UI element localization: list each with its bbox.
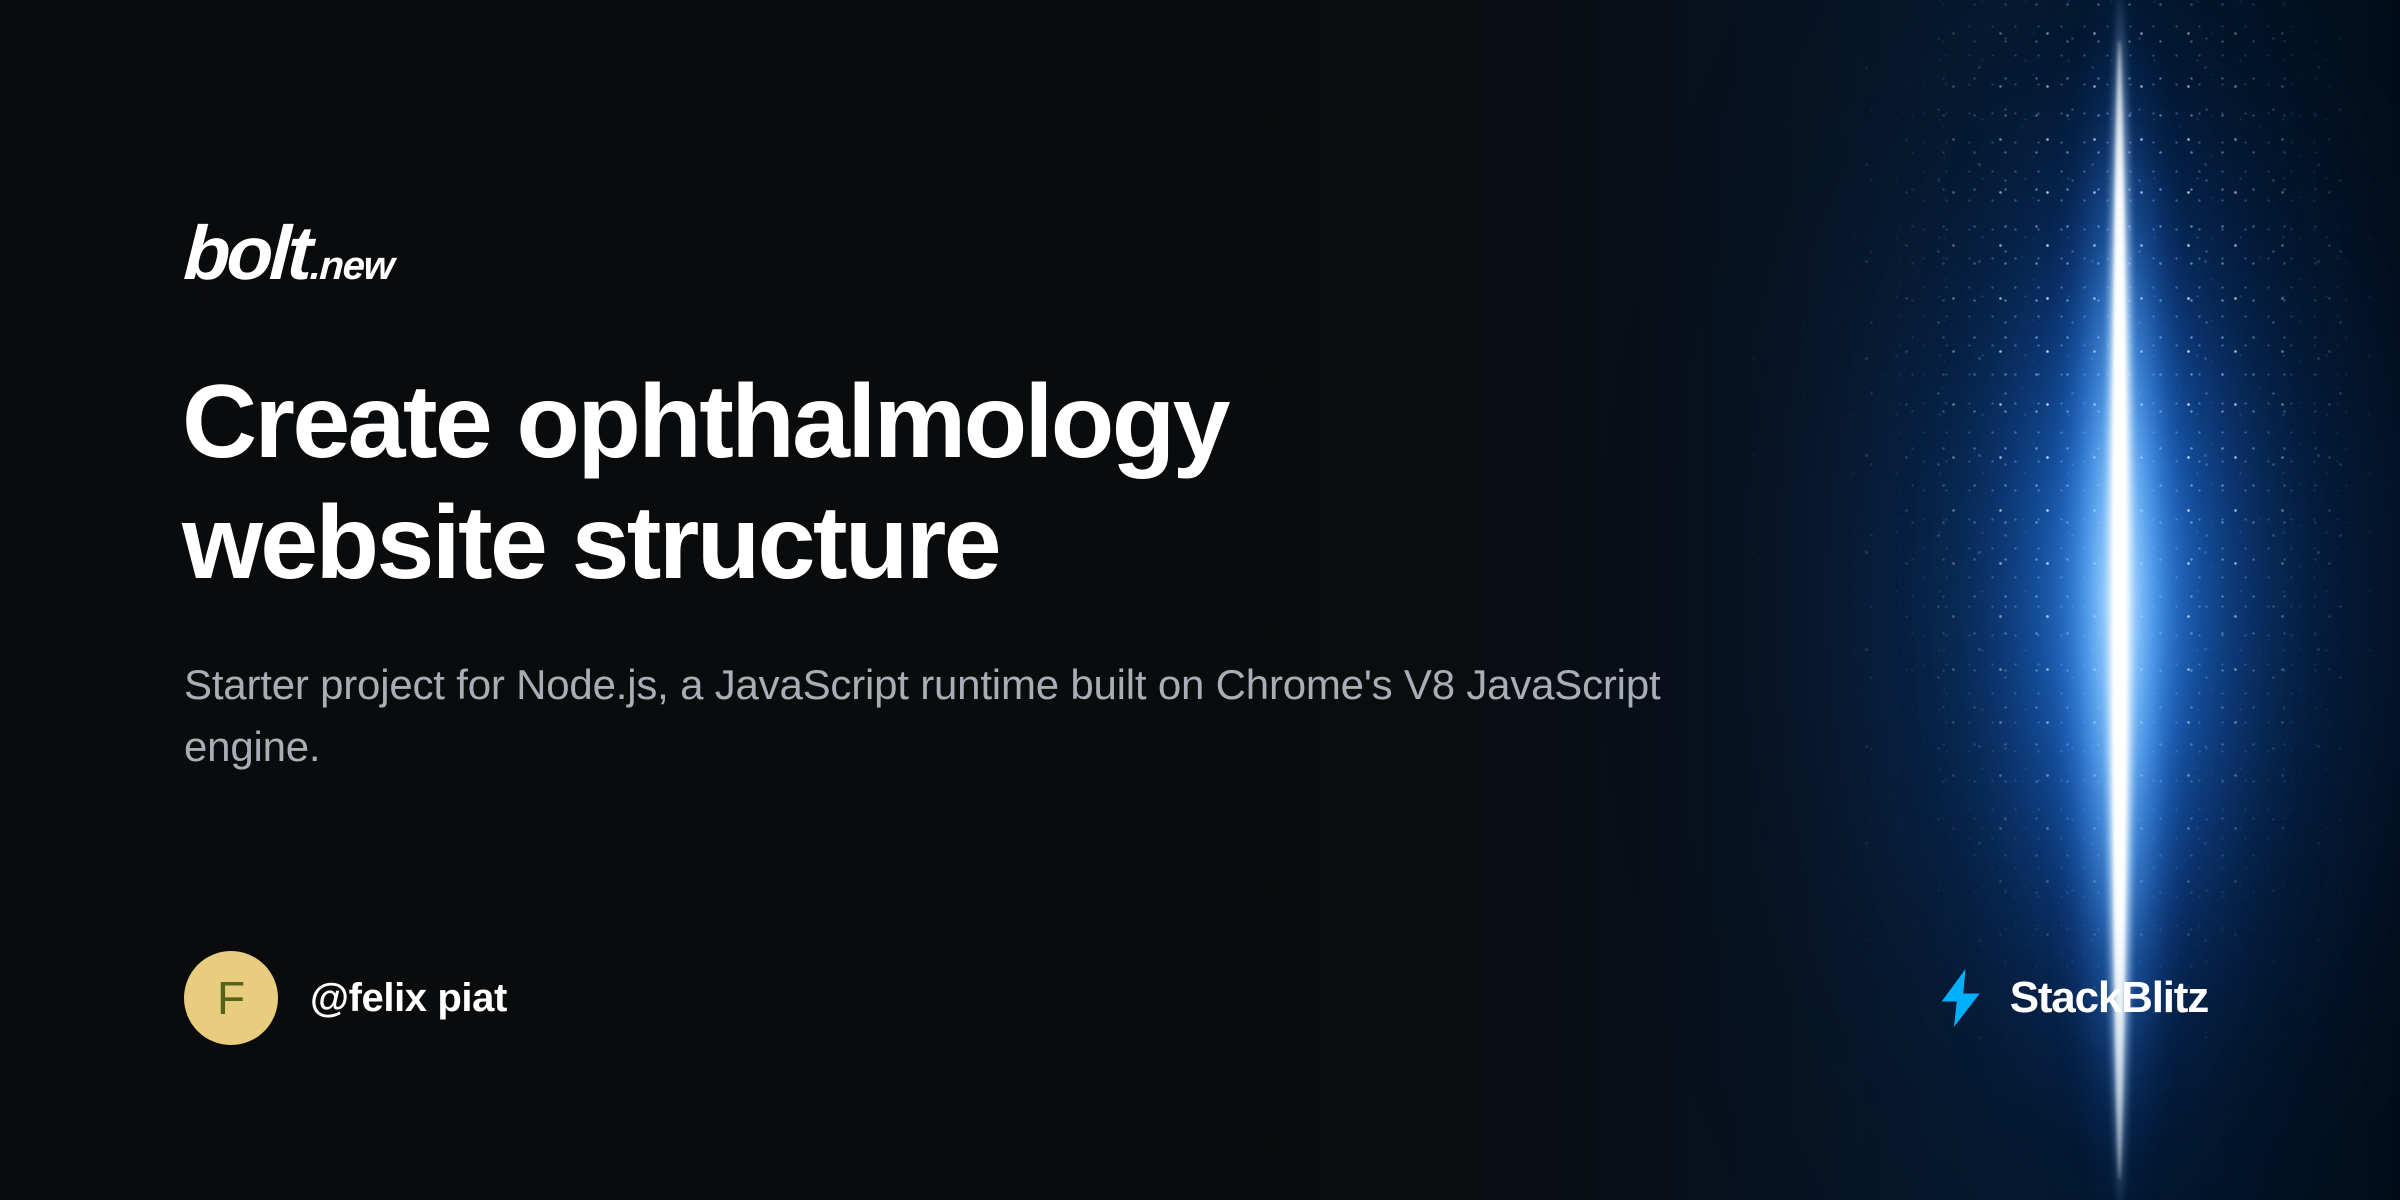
avatar-initial: F xyxy=(217,975,245,1021)
page-title: Create ophthalmology website structure xyxy=(182,362,1742,603)
lightning-bolt-icon xyxy=(1938,969,1984,1027)
avatar: F xyxy=(184,951,278,1045)
author-block[interactable]: F @felix piat xyxy=(184,951,507,1045)
bolt-new-suffix: .new xyxy=(309,246,394,286)
bolt-wordmark-text: bolt xyxy=(182,211,312,296)
bolt-wordmark: bolt xyxy=(182,216,311,292)
author-handle: @felix piat xyxy=(310,976,507,1021)
stackblitz-wordmark: StackBlitz xyxy=(2010,973,2208,1023)
bolt-new-logo[interactable]: bolt .new xyxy=(184,216,394,292)
card-content: bolt .new Create ophthalmology website s… xyxy=(0,0,2400,1200)
og-preview-card: bolt .new Create ophthalmology website s… xyxy=(0,0,2400,1200)
stackblitz-brand[interactable]: StackBlitz xyxy=(1938,969,2208,1027)
project-description: Starter project for Node.js, a JavaScrip… xyxy=(184,654,1804,778)
card-footer: F @felix piat StackBlitz xyxy=(184,938,2216,1058)
